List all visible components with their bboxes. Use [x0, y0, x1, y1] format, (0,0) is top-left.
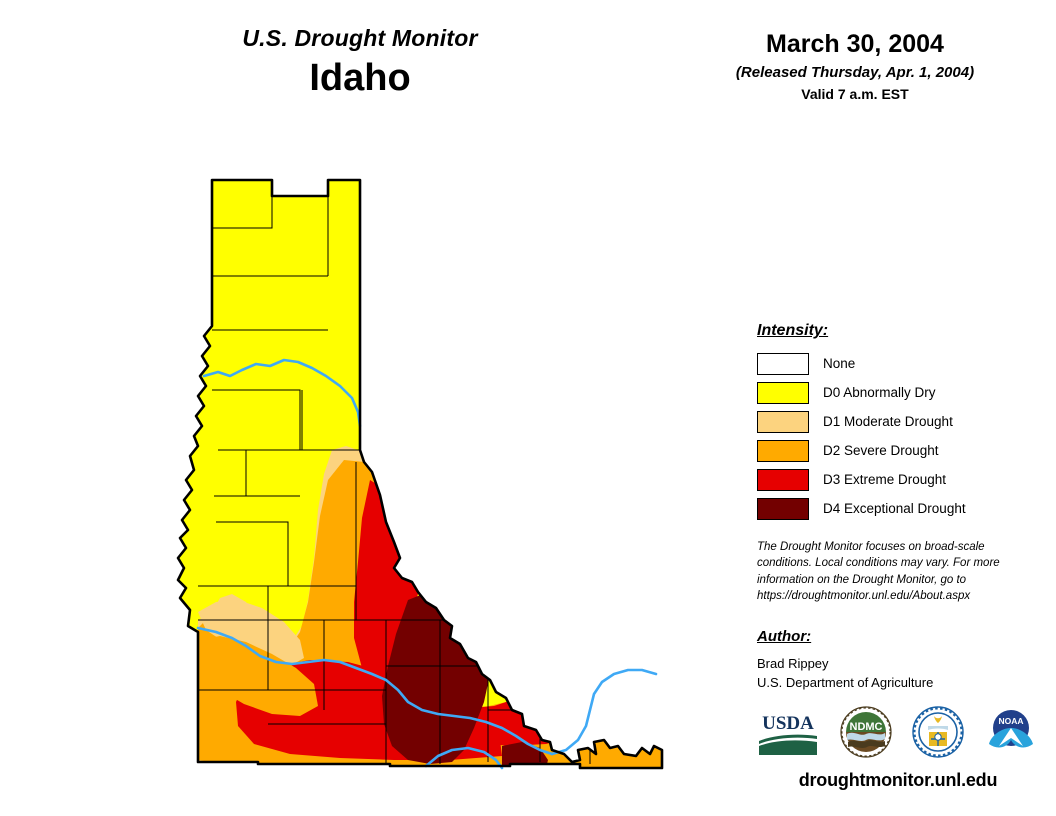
legend-label-d0: D0 Abnormally Dry: [823, 385, 936, 400]
disclaimer-text: The Drought Monitor focuses on broad-sca…: [757, 539, 1019, 604]
legend-label-d1: D1 Moderate Drought: [823, 414, 953, 429]
drought-monitor-title: U.S. Drought Monitor: [150, 26, 570, 51]
disclaimer-link[interactable]: https://droughtmonitor.unl.edu/About.asp…: [757, 588, 1019, 604]
legend-row-d0: D0 Abnormally Dry: [757, 378, 1017, 407]
legend-swatch-d3: [757, 469, 809, 491]
legend-label-d2: D2 Severe Drought: [823, 443, 939, 458]
legend-swatch-d0: [757, 382, 809, 404]
usdc-seal-logo: [912, 706, 964, 758]
svg-text:USDA: USDA: [762, 713, 814, 734]
legend-row-none: None: [757, 349, 1017, 378]
map-date: March 30, 2004: [700, 30, 1010, 59]
valid-time: Valid 7 a.m. EST: [700, 86, 1010, 103]
legend-label-d4: D4 Exceptional Drought: [823, 501, 966, 516]
legend-swatch-d1: [757, 411, 809, 433]
intensity-legend: Intensity: None D0 Abnormally Dry D1 Mod…: [757, 322, 1017, 523]
legend-row-d2: D2 Severe Drought: [757, 436, 1017, 465]
title-block: U.S. Drought Monitor Idaho: [150, 26, 570, 101]
legend-row-d4: D4 Exceptional Drought: [757, 494, 1017, 523]
legend-heading: Intensity:: [757, 322, 1017, 340]
disclaimer-line-2: conditions. Local conditions may vary. F…: [757, 555, 1019, 571]
state-name-title: Idaho: [150, 57, 570, 101]
legend-row-d1: D1 Moderate Drought: [757, 407, 1017, 436]
legend-swatch-none: [757, 353, 809, 375]
legend-row-d3: D3 Extreme Drought: [757, 465, 1017, 494]
author-block: Author: Brad Rippey U.S. Department of A…: [757, 628, 1019, 693]
legend-swatch-d2: [757, 440, 809, 462]
logo-row: USDA NDMC NOAA: [757, 703, 1037, 761]
release-date: (Released Thursday, Apr. 1, 2004): [700, 64, 1010, 82]
svg-text:NDMC: NDMC: [849, 721, 882, 733]
author-name: Brad Rippey: [757, 655, 1019, 674]
legend-label-d3: D3 Extreme Drought: [823, 472, 946, 487]
ndmc-logo: NDMC: [840, 706, 892, 758]
author-affiliation: U.S. Department of Agriculture: [757, 674, 1019, 693]
noaa-logo: NOAA: [985, 706, 1037, 758]
svg-text:NOAA: NOAA: [998, 716, 1023, 726]
legend-swatch-d4: [757, 498, 809, 520]
usda-logo: USDA: [757, 707, 819, 757]
disclaimer-line-1: The Drought Monitor focuses on broad-sca…: [757, 539, 1019, 555]
date-block: March 30, 2004 (Released Thursday, Apr. …: [700, 30, 1010, 103]
disclaimer-line-3: information on the Drought Monitor, go t…: [757, 572, 1019, 588]
site-url[interactable]: droughtmonitor.unl.edu: [757, 770, 1039, 791]
legend-label-none: None: [823, 356, 855, 371]
author-heading: Author:: [757, 628, 1019, 645]
idaho-drought-map[interactable]: [150, 150, 670, 800]
